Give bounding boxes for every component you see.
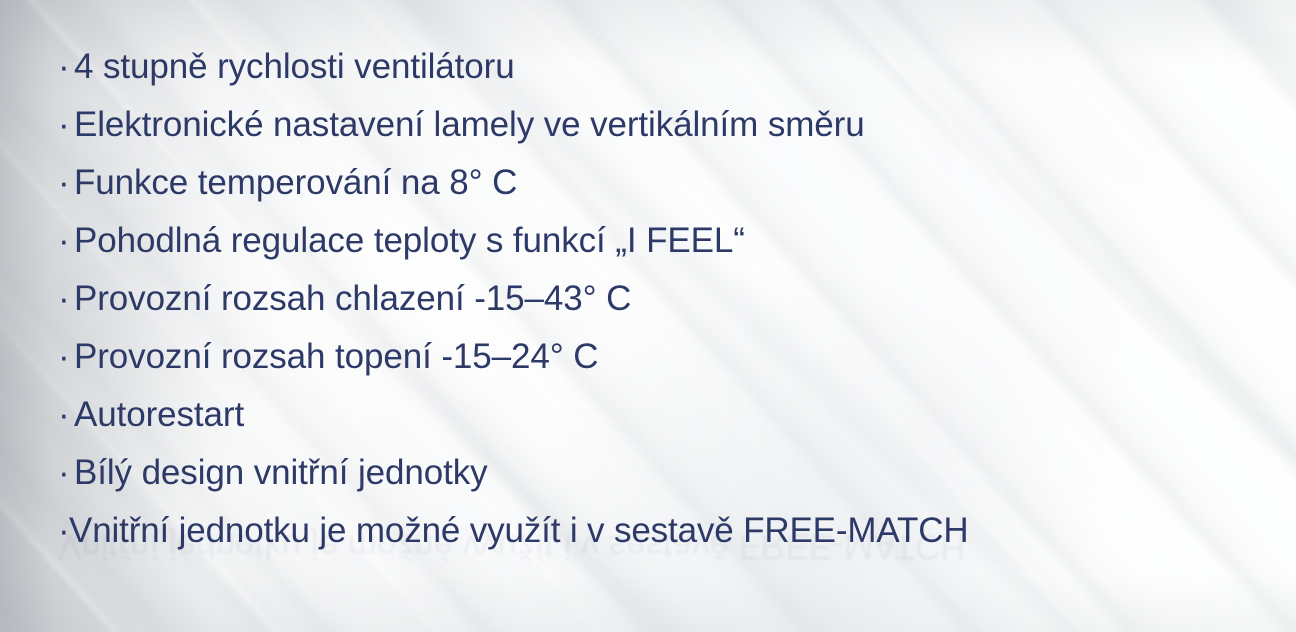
list-item: · Funkce temperování na 8° C xyxy=(0,154,1296,212)
list-item: · Pohodlná regulace teploty s funkcí „I … xyxy=(0,212,1296,270)
feature-text: Vnitřní jednotku je možné využít i v ses… xyxy=(69,502,968,560)
feature-text: 4 stupně rychlosti ventilátoru xyxy=(74,38,515,96)
list-item: · Vnitřní jednotku je možné využít i v s… xyxy=(0,502,1296,560)
list-item: · Provozní rozsah chlazení -15–43° C xyxy=(0,270,1296,328)
slide-canvas: · 4 stupně rychlosti ventilátoru · Elekt… xyxy=(0,0,1296,632)
feature-text: Provozní rozsah chlazení -15–43° C xyxy=(74,270,631,328)
list-item: · Elektronické nastavení lamely ve verti… xyxy=(0,96,1296,154)
feature-text: Pohodlná regulace teploty s funkcí „I FE… xyxy=(74,212,745,270)
bullet-dot-icon: · xyxy=(58,502,69,560)
bullet-dot-icon: · xyxy=(58,328,74,386)
list-item: · 4 stupně rychlosti ventilátoru xyxy=(0,38,1296,96)
list-item: · Bílý design vnitřní jednotky xyxy=(0,444,1296,502)
feature-text: Autorestart xyxy=(74,386,244,444)
bullet-dot-icon: · xyxy=(58,270,74,328)
bullet-dot-icon: · xyxy=(58,212,74,270)
feature-text: Provozní rozsah topení -15–24° C xyxy=(74,328,598,386)
feature-text: Elektronické nastavení lamely ve vertiká… xyxy=(74,96,865,154)
bullet-dot-icon: · xyxy=(58,386,74,444)
feature-text: Bílý design vnitřní jednotky xyxy=(74,444,488,502)
bullet-dot-icon: · xyxy=(58,96,74,154)
list-item: · Autorestart xyxy=(0,386,1296,444)
bullet-dot-icon: · xyxy=(58,154,74,212)
bullet-dot-icon: · xyxy=(58,38,74,96)
feature-text: Funkce temperování na 8° C xyxy=(74,154,517,212)
bullet-dot-icon: · xyxy=(58,444,74,502)
list-item: · Provozní rozsah topení -15–24° C xyxy=(0,328,1296,386)
feature-list: · 4 stupně rychlosti ventilátoru · Elekt… xyxy=(0,0,1296,560)
